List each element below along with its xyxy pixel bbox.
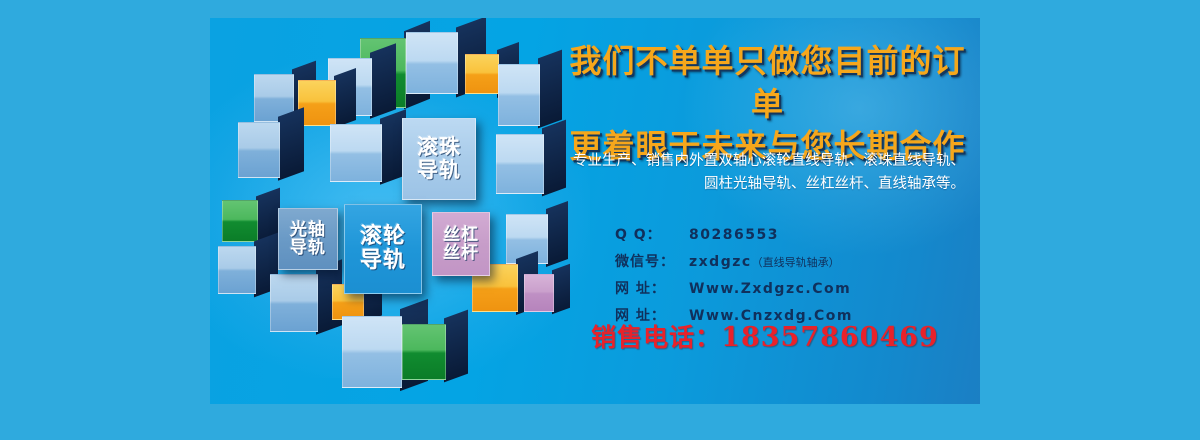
contact-label-qq: Q Q： [615,224,689,244]
sales-phone-number[interactable]: 18357860469 [721,322,939,353]
cube-blue-far-right [498,64,540,126]
contact-row-wechat: 微信号： zxdgzc （直线导轨轴承） [615,251,853,271]
headline-line-1: 我们不单单只做您目前的订单 [555,40,980,125]
cube-blue-left [238,122,280,178]
product-box-optical-axis-guide-label: 光轴 导轨 [290,221,326,258]
product-box-roller-guide[interactable]: 滚轮 导轨 [344,204,422,294]
cube-blue-topright [406,32,458,94]
promo-banner: 滚珠 导轨 光轴 导轨 滚轮 导轨 丝杠 丝杆 我们不单单只做您目前的订单 更着… [210,18,980,404]
product-box-lead-screw[interactable]: 丝杠 丝杆 [432,212,490,276]
contact-row-qq: Q Q： 80286553 [615,224,853,244]
description-text: 专业生产、销售内外置双轴心滚轮直线导轨、滚珠直线导轨、圆柱光轴导轨、丝杠丝杆、直… [573,150,965,197]
contact-row-website-1: 网 址： Www.Zxdgzc.Com [615,278,853,298]
cube-blue-right [496,134,544,194]
cube-green-left [222,200,258,242]
contact-note-wechat: （直线导轨轴承） [752,254,840,270]
cube-pink-right [524,274,554,312]
cube-blue-center-upper [330,124,382,182]
product-box-lead-screw-label: 丝杠 丝杆 [443,226,479,263]
contact-value-website-1[interactable]: Www.Zxdgzc.Com [689,281,851,297]
banner-content: 我们不单单只做您目前的订单 更着眼于未来与您长期合作 专业生产、销售内外置双轴心… [555,18,980,404]
cube-blue-lower-left [218,246,256,294]
product-box-ball-guide-label: 滚珠 导轨 [417,136,461,181]
product-box-ball-guide[interactable]: 滚珠 导轨 [402,118,476,200]
sales-phone-label: 销售电话： [591,323,721,352]
cube-green-bottom [402,324,446,380]
cube-cluster-graphic: 滚珠 导轨 光轴 导轨 滚轮 导轨 丝杠 丝杆 [210,18,555,404]
cube-gold-topright [465,54,499,94]
cube-blue-bottom-center [342,316,402,388]
contact-value-qq[interactable]: 80286553 [689,227,779,243]
headline: 我们不单单只做您目前的订单 更着眼于未来与您长期合作 [555,40,980,168]
contact-label-wechat: 微信号： [615,251,689,271]
product-box-optical-axis-guide[interactable]: 光轴 导轨 [278,208,338,270]
contact-label-website-1: 网 址： [615,278,689,298]
sales-phone: 销售电话：18357860469 [563,318,967,354]
product-box-roller-guide-label: 滚轮 导轨 [360,225,406,273]
banner-page: 滚珠 导轨 光轴 导轨 滚轮 导轨 丝杠 丝杆 我们不单单只做您目前的订单 更着… [0,0,1200,440]
contact-value-wechat[interactable]: zxdgzc [689,254,752,270]
contact-block: Q Q： 80286553 微信号： zxdgzc （直线导轨轴承） 网 址： … [615,224,853,332]
cube-blue-bottom-left [270,274,318,332]
